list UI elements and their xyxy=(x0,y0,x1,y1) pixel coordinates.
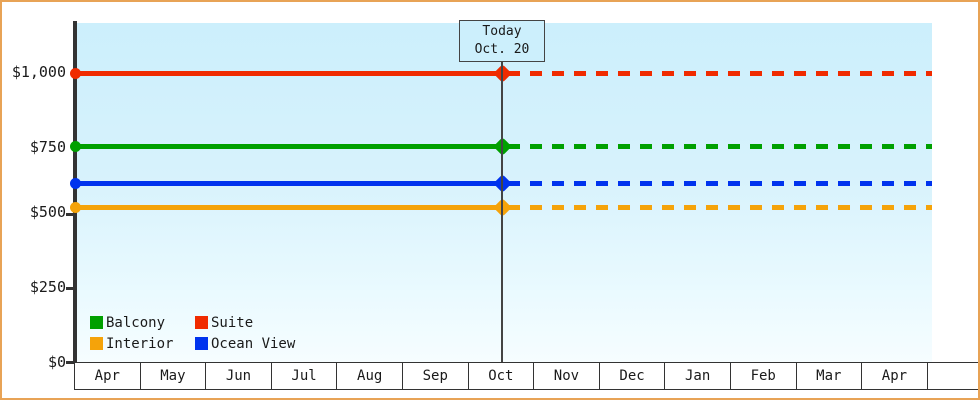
x-axis-month-cell xyxy=(928,363,980,389)
legend-swatch-balcony-icon xyxy=(90,316,103,329)
x-axis-month-cell: Feb xyxy=(731,363,797,389)
x-axis-month-cell: Apr xyxy=(75,363,141,389)
chart-legend: Balcony Suite Interior Ocean View xyxy=(90,312,295,354)
y-tick-mark-500 xyxy=(66,213,74,216)
y-tick-mark-0 xyxy=(66,361,74,364)
x-axis-month-cell: Aug xyxy=(337,363,403,389)
today-vertical-line xyxy=(501,23,503,362)
series-start-dot-interior xyxy=(70,202,81,213)
series-line-interior-dashed xyxy=(508,205,932,210)
series-line-interior-solid xyxy=(77,205,502,210)
legend-swatch-suite-icon xyxy=(195,316,208,329)
x-axis-month-cell: Sep xyxy=(403,363,469,389)
legend-item-suite: Suite xyxy=(195,315,295,331)
legend-item-interior: Interior xyxy=(90,336,195,352)
series-line-suite-dashed xyxy=(508,71,932,76)
legend-swatch-oceanview-icon xyxy=(195,337,208,350)
x-axis-month-cell: Mar xyxy=(797,363,863,389)
x-axis-month-cell: Apr xyxy=(862,363,928,389)
y-tick-label-1000: $1,000 xyxy=(12,65,66,80)
series-start-dot-oceanview xyxy=(70,178,81,189)
legend-label-oceanview: Ocean View xyxy=(211,336,295,352)
legend-label-suite: Suite xyxy=(211,315,253,331)
today-callout-box: Today Oct. 20 xyxy=(459,20,545,62)
x-axis-month-cell: Jun xyxy=(206,363,272,389)
x-axis-months: Apr May Jun Jul Aug Sep Oct Nov Dec Jan … xyxy=(74,362,980,390)
series-line-oceanview-solid xyxy=(77,181,502,186)
y-tick-label-250: $250 xyxy=(30,280,66,295)
y-tick-mark-250 xyxy=(66,287,74,290)
series-line-balcony-dashed xyxy=(508,144,932,149)
series-line-suite-solid xyxy=(77,71,502,76)
y-tick-label-500: $500 xyxy=(30,205,66,220)
x-axis-month-cell: Jan xyxy=(665,363,731,389)
y-tick-label-750: $750 xyxy=(30,140,66,155)
x-axis-month-cell: Dec xyxy=(600,363,666,389)
x-axis-month-cell: May xyxy=(141,363,207,389)
chart-container: $1,000 $750 $500 $250 $0 Today Oct. 20 B… xyxy=(0,0,980,400)
x-axis-month-cell: Nov xyxy=(534,363,600,389)
y-tick-label-0: $0 xyxy=(48,355,66,370)
legend-item-balcony: Balcony xyxy=(90,315,195,331)
legend-item-oceanview: Ocean View xyxy=(195,336,295,352)
x-axis-month-cell: Oct xyxy=(469,363,535,389)
series-start-dot-suite xyxy=(70,68,81,79)
today-callout-date: Oct. 20 xyxy=(475,41,530,59)
legend-label-interior: Interior xyxy=(106,336,173,352)
series-line-oceanview-dashed xyxy=(508,181,932,186)
series-line-balcony-solid xyxy=(77,144,502,149)
today-callout-title: Today xyxy=(482,23,521,41)
legend-swatch-interior-icon xyxy=(90,337,103,350)
x-axis-month-cell: Jul xyxy=(272,363,338,389)
series-start-dot-balcony xyxy=(70,141,81,152)
legend-label-balcony: Balcony xyxy=(106,315,165,331)
